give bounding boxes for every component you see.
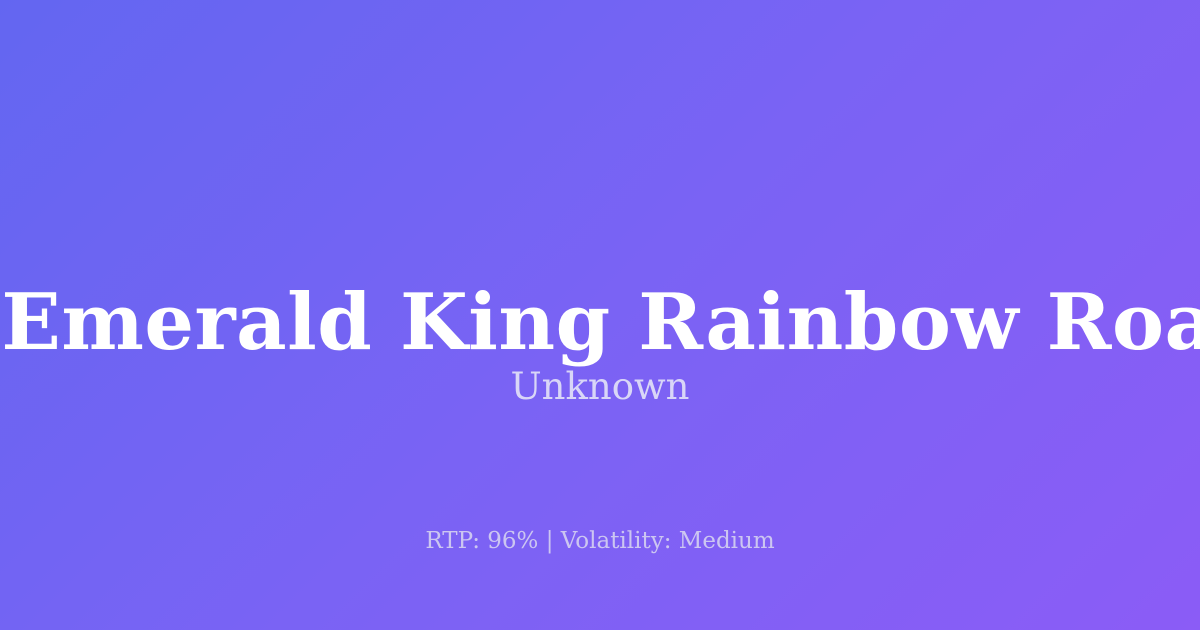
game-stats: RTP: 96% | Volatility: Medium — [0, 526, 1200, 556]
game-og-card: 1F B0 Emerald King Rainbow Road Unknown … — [0, 0, 1200, 630]
game-title: Emerald King Rainbow Road — [1, 284, 1200, 362]
game-provider: Unknown — [0, 364, 1200, 410]
